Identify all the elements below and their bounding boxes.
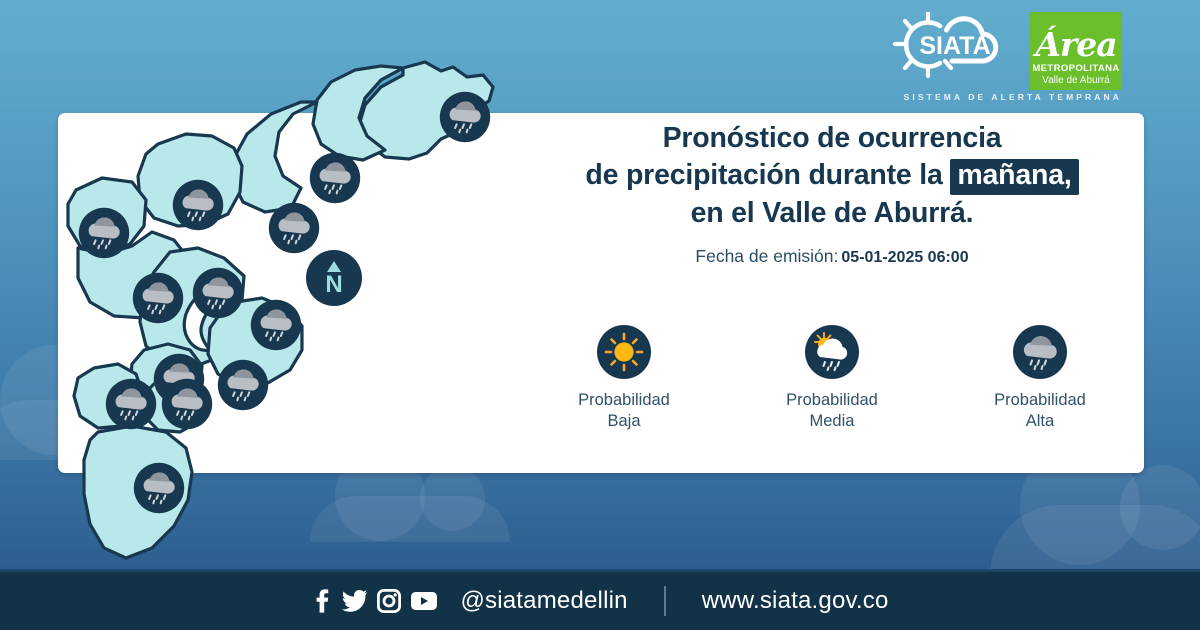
legend-label-alta: Probabilidad Alta (994, 390, 1086, 432)
facebook-icon[interactable] (311, 589, 333, 613)
compass-north-label: N (325, 271, 342, 298)
sun-cloud-rain-icon (805, 325, 859, 379)
headline-line-2-text: de precipitación durante la (585, 159, 950, 191)
footer-bar: @siatamedellin www.siata.gov.co (0, 572, 1200, 630)
footer-separator (664, 586, 666, 616)
siata-logo: SIATA (892, 12, 1020, 86)
map-marker-san pedro (173, 180, 223, 230)
emission-value: 05-01-2025 06:00 (841, 249, 968, 266)
twitter-icon[interactable] (342, 589, 368, 613)
map-marker-copacabana (269, 203, 319, 253)
am-line-valle: Valle de Aburrá (1042, 75, 1110, 87)
headline-line-3: en el Valle de Aburrá. (520, 195, 1144, 232)
map-marker-caldas (134, 463, 184, 513)
legend-item-baja: Probabilidad Baja (529, 325, 719, 432)
legend-alta-line2: Alta (1026, 412, 1054, 430)
legend-baja-line2: Baja (607, 412, 640, 430)
legend-baja-line1: Probabilidad (578, 391, 670, 409)
map-marker-sabaneta (162, 379, 212, 429)
legend-alta-line1: Probabilidad (994, 391, 1086, 409)
headline-highlight-manana: mañana, (950, 159, 1078, 195)
legend-media-line2: Media (810, 412, 855, 430)
map-marker-la estrella (106, 379, 156, 429)
page-title: Pronóstico de ocurrencia de precipitació… (520, 120, 1144, 232)
legend-media-line1: Probabilidad (786, 391, 878, 409)
map-marker-bello (133, 273, 183, 323)
social-icons[interactable] (311, 589, 438, 613)
map-marker-medellin-centro (251, 300, 301, 350)
logo-bar: SIATA Área METROPOLITANA Valle de Aburrá (892, 12, 1122, 90)
headline-line-2: de precipitación durante la mañana, (520, 157, 1144, 195)
valle-de-aburra-map: N (58, 40, 528, 570)
map-marker-envigado (218, 360, 268, 410)
headline-line-1: Pronóstico de ocurrencia (520, 120, 1144, 157)
legend-item-alta: Probabilidad Alta (945, 325, 1135, 432)
legend-label-baja: Probabilidad Baja (578, 390, 670, 432)
background-cloud-right (990, 505, 1200, 575)
am-script-text: Área (1035, 28, 1116, 61)
youtube-icon[interactable] (410, 590, 438, 612)
legend-item-media: Probabilidad Media (737, 325, 927, 432)
cloud-rain-icon (1013, 325, 1067, 379)
sun-icon (597, 325, 651, 379)
emission-date: Fecha de emisión:05-01-2025 06:00 (520, 246, 1144, 267)
map-marker-medellin-norte (193, 268, 243, 318)
instagram-icon[interactable] (377, 589, 401, 613)
compass-rose: N (306, 250, 362, 306)
legend-label-media: Probabilidad Media (786, 390, 878, 432)
area-metropolitana-logo: Área METROPOLITANA Valle de Aburrá (1030, 12, 1122, 90)
website-url[interactable]: www.siata.gov.co (702, 587, 889, 615)
municipality-copacabana (233, 102, 317, 212)
map-marker-girardota (310, 153, 360, 203)
emission-label: Fecha de emisión: (695, 246, 838, 266)
social-handle[interactable]: @siatamedellin (460, 587, 627, 615)
map-marker-barbosa (440, 92, 490, 142)
probability-legend: Probabilidad Baja (520, 325, 1144, 432)
text-column: Pronóstico de ocurrencia de precipitació… (520, 120, 1144, 267)
map-marker-bello-norte (79, 208, 129, 258)
am-line-metropolitana: METROPOLITANA (1032, 64, 1119, 74)
siata-wordmark: SIATA (919, 32, 990, 60)
siata-tagline: SISTEMA DE ALERTA TEMPRANA (900, 92, 1122, 102)
